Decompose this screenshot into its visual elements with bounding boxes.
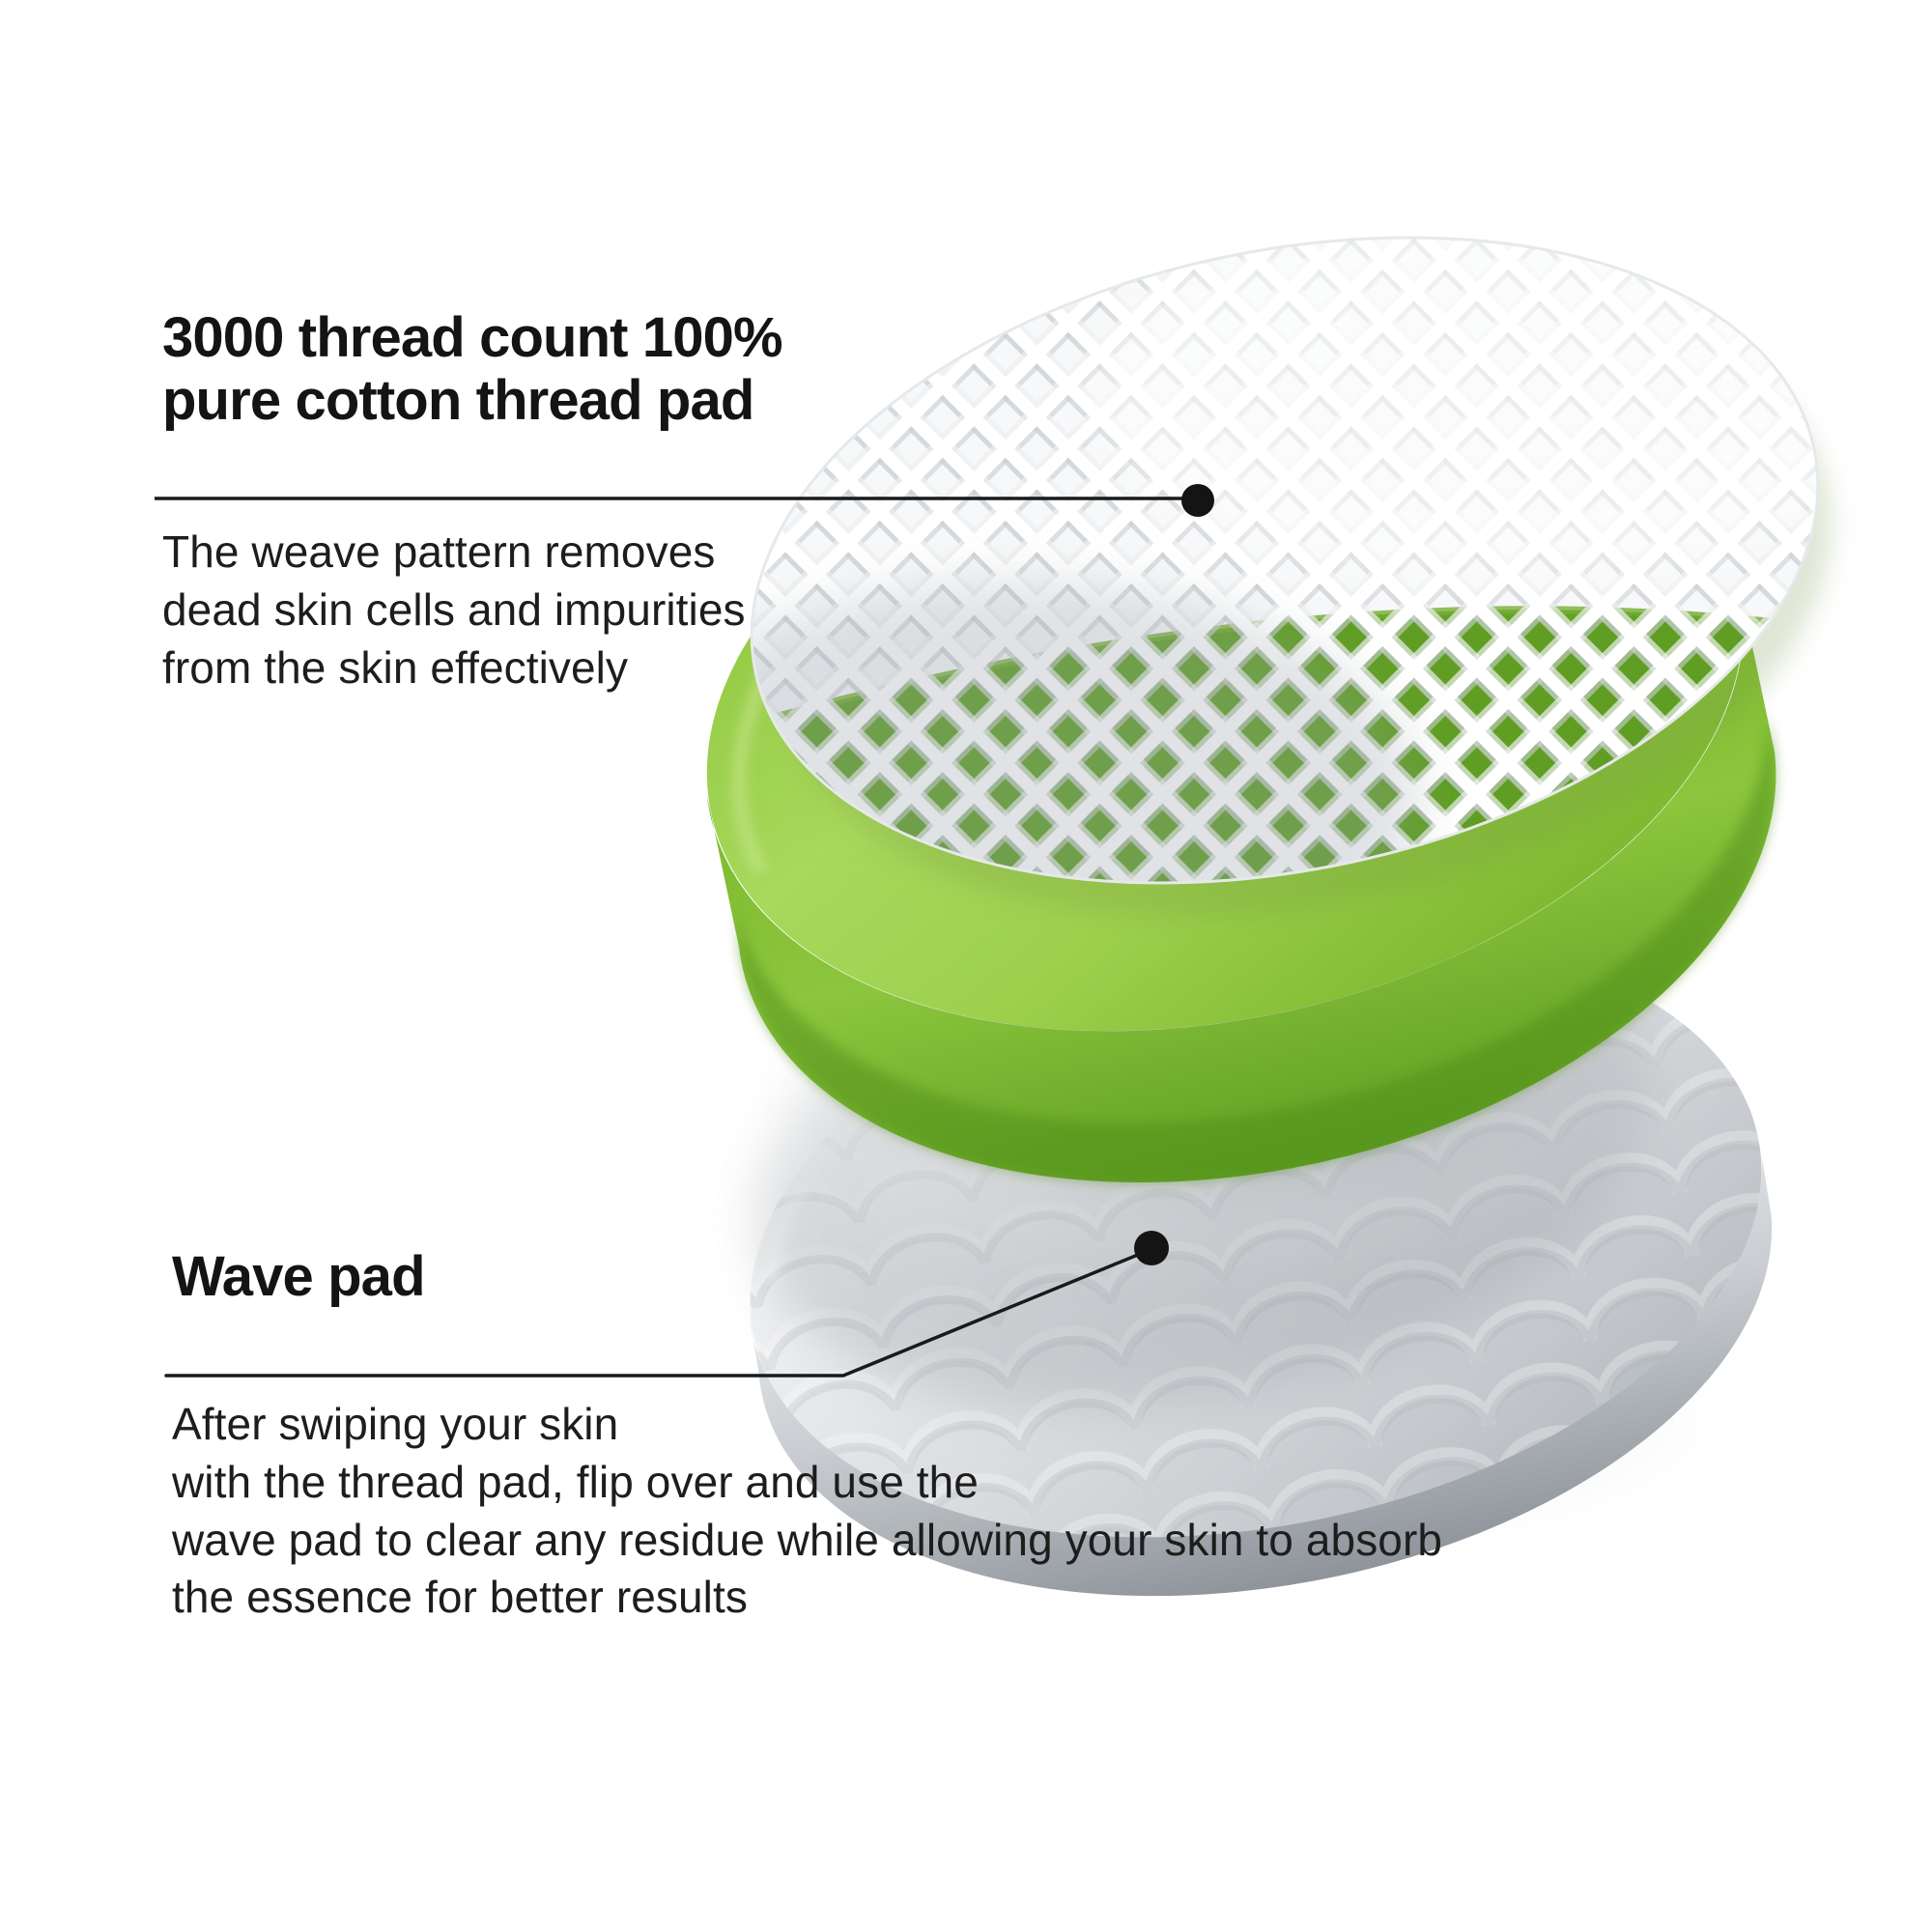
product-artwork-svg bbox=[0, 0, 1932, 1932]
product-illustration bbox=[0, 0, 1932, 1932]
callout-thread-pad-title: 3000 thread count 100% pure cotton threa… bbox=[162, 307, 1032, 433]
infographic-canvas: 3000 thread count 100% pure cotton threa… bbox=[0, 0, 1932, 1932]
callout-wave-pad: Wave pad After swiping your skin with th… bbox=[172, 1246, 1872, 1627]
callout-thread-pad: 3000 thread count 100% pure cotton threa… bbox=[162, 307, 1032, 696]
callout-wave-pad-body: After swiping your skin with the thread … bbox=[172, 1396, 1872, 1627]
callout-thread-pad-body: The weave pattern removes dead skin cell… bbox=[162, 524, 1032, 696]
callout-wave-pad-title: Wave pad bbox=[172, 1246, 1872, 1309]
